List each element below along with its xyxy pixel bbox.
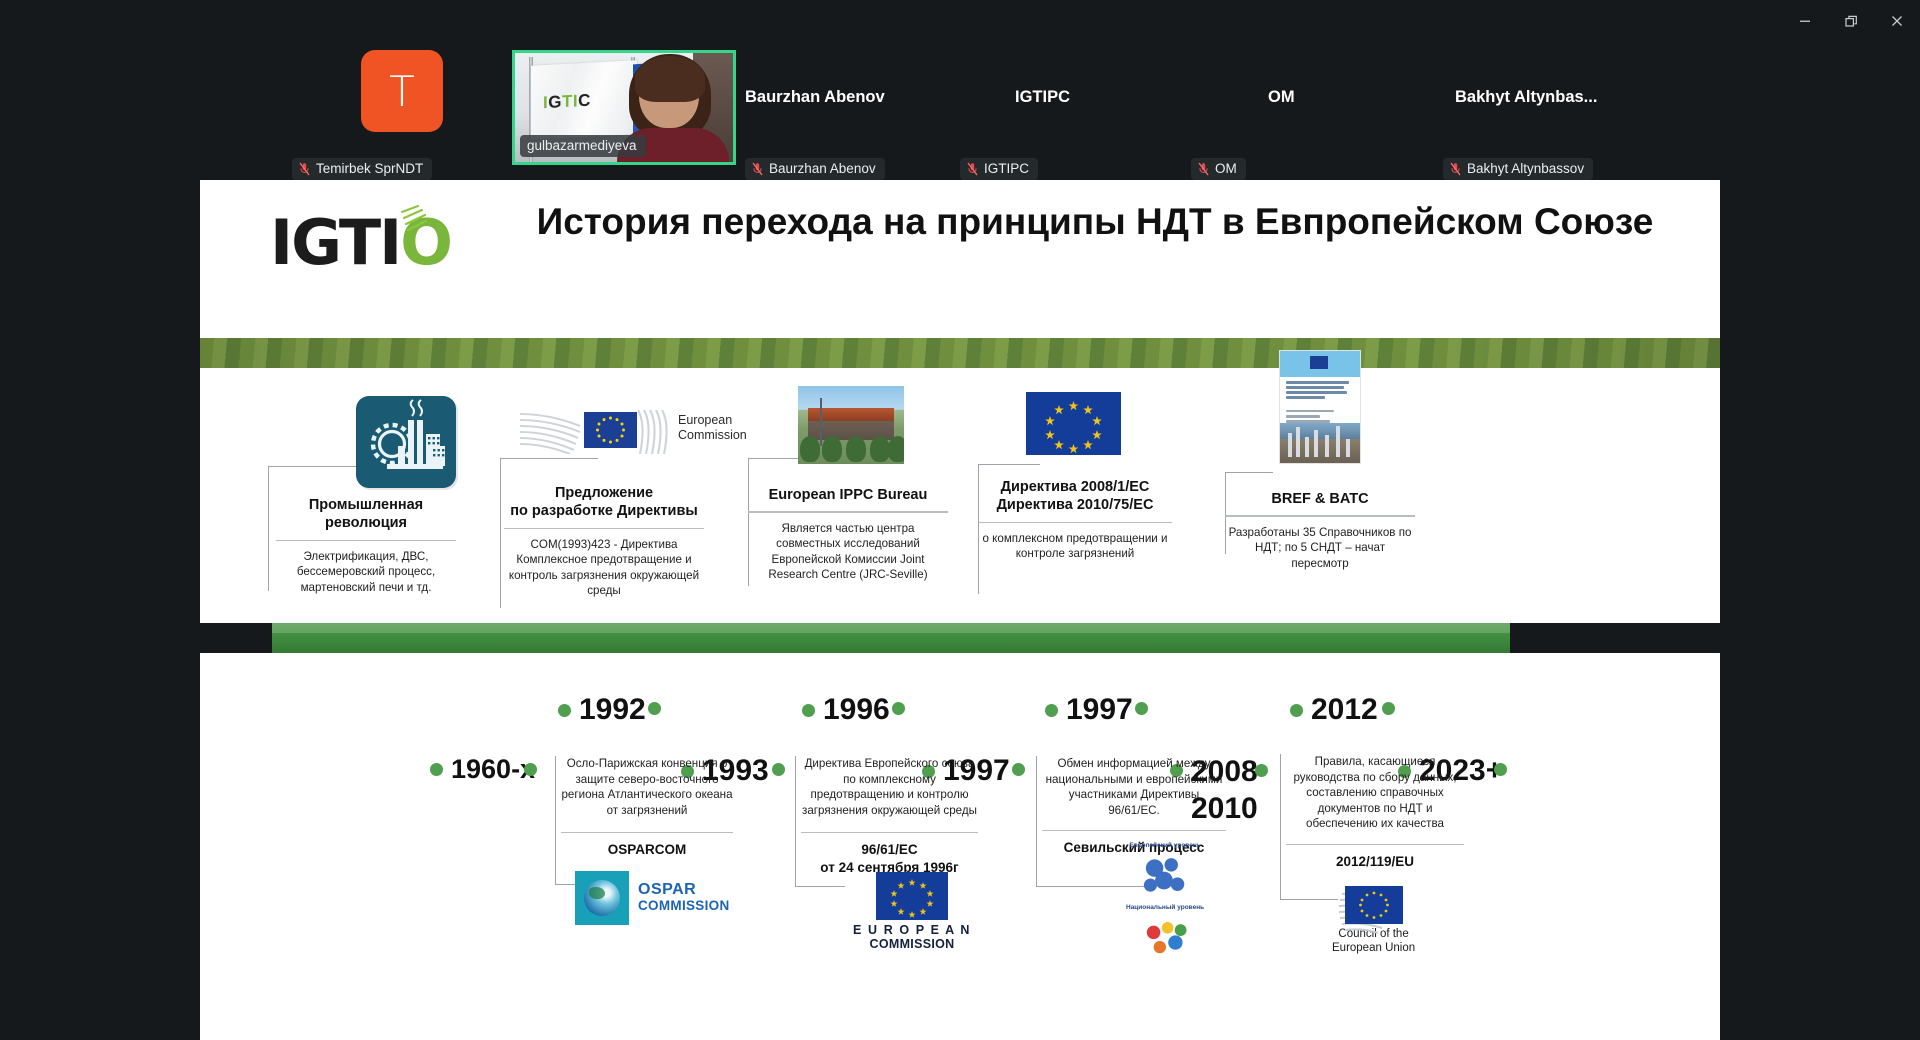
timeline-dot — [1290, 704, 1303, 717]
card-body: Является частью центра совместных исслед… — [748, 521, 948, 583]
avatar: T — [361, 50, 443, 132]
timeline-canvas: Промышленная революция Электрификация, Д… — [200, 368, 1720, 1040]
participant-display-name: Bakhyt Altynbas... — [1455, 88, 1597, 107]
minimize-button[interactable] — [1782, 0, 1828, 42]
card-title: Предложение по разработке Директивы — [504, 484, 704, 521]
eucom-logo-text-b: COMMISSION — [853, 937, 971, 951]
divider — [748, 511, 948, 512]
timeline-dot — [648, 702, 661, 715]
divider — [1042, 830, 1226, 831]
year-label: 1992 — [579, 693, 646, 727]
ospar-logo-text-a: OSPAR — [638, 882, 730, 898]
close-button[interactable] — [1874, 0, 1920, 42]
participant-name: Bakhyt Altynbassov — [1467, 161, 1584, 176]
seville-process-diagram: Европейский уровень Национальный уровень — [1126, 842, 1204, 960]
timeline-card-directive-96-61-ec[interactable]: Директива Европейского союза по комплекс… — [795, 756, 980, 877]
participant-tile-om[interactable]: OM OM — [1268, 50, 1358, 170]
european-commission-logo: EuropeanCommission — [520, 408, 672, 456]
year-1996: 1996 — [802, 693, 890, 727]
timeline-dot — [892, 702, 905, 715]
european-commission-flag-logo: E U R O P E A N COMMISSION — [853, 872, 971, 951]
participant-name: Temirbek SprNDT — [316, 161, 423, 176]
participant-name: OM — [1215, 161, 1237, 176]
card-subtitle: 2012/119/EU — [1286, 853, 1464, 871]
name-tag: Bakhyt Altynbassov — [1443, 158, 1593, 180]
european-commission-label: EuropeanCommission — [678, 413, 747, 443]
name-tag: gulbazarmediyeva — [520, 135, 646, 157]
participant-name: IGTIPC — [984, 161, 1029, 176]
participant-strip: T Temirbek SprNDT IGTIC — [0, 50, 1920, 180]
timeline-dot — [558, 704, 571, 717]
year-label: 1996 — [823, 693, 890, 727]
year-label: 1997 — [1066, 693, 1133, 727]
year-label: 1960-х — [451, 754, 535, 785]
timeline-dot — [1382, 702, 1395, 715]
video-feed: IGTIC gulbazarmediyeva — [512, 50, 736, 165]
year-2012: 2012 — [1290, 693, 1378, 727]
participant-name: Baurzhan Abenov — [769, 161, 876, 176]
timeline-card-ospar[interactable]: Осло-Парижская конвенция о защите северо… — [555, 756, 735, 859]
timeline-bar-gap-right — [1510, 623, 1720, 653]
restore-button[interactable] — [1828, 0, 1874, 42]
card-title: European IPPC Bureau — [748, 486, 948, 504]
name-tag: Baurzhan Abenov — [745, 158, 885, 180]
landscape-banner — [200, 338, 1720, 368]
window-controls — [1782, 0, 1920, 42]
timeline-dot — [772, 763, 785, 776]
council-of-eu-logo: Council of the European Union — [1332, 886, 1415, 955]
participant-tile-temirbek[interactable]: T Temirbek SprNDT — [361, 50, 443, 170]
divider — [1225, 515, 1415, 516]
divider — [1286, 844, 1464, 845]
participant-display-name: IGTIPC — [1015, 88, 1070, 107]
timeline-dot — [1255, 764, 1268, 777]
card-title: Директива 2008/1/EC Директива 2010/75/EC — [978, 478, 1172, 515]
mic-off-icon — [967, 162, 978, 176]
timeline-card-decision-2012-119-eu[interactable]: Правила, касающиеся руководства по сбору… — [1280, 754, 1466, 871]
timeline-dot — [802, 704, 815, 717]
participant-display-name: Baurzhan Abenov — [745, 88, 885, 107]
participant-display-name: OM — [1268, 88, 1295, 107]
coeu-logo-text-b: European Union — [1332, 942, 1415, 954]
bref-document-cover — [1279, 350, 1361, 464]
factory-gear-icon — [356, 396, 456, 488]
mic-off-icon — [299, 162, 310, 176]
divider — [561, 832, 733, 833]
logo-swoosh-icon — [396, 204, 436, 238]
year-label: 2012 — [1311, 693, 1378, 727]
card-title: BREF & BATC — [1225, 490, 1415, 508]
timeline-dot — [1012, 763, 1025, 776]
card-body: Обмен информацией между национальными и … — [1042, 756, 1226, 818]
slide-title: История перехода на принципы НДТ в Евпро… — [530, 198, 1660, 245]
card-body: о комплексном предотвращении и контроле … — [978, 531, 1172, 562]
timeline-bar-gap-left — [200, 623, 272, 653]
name-tag: OM — [1191, 158, 1246, 180]
participant-name: gulbazarmediyeva — [527, 138, 637, 153]
mic-off-icon — [1450, 162, 1461, 176]
eu-flag-icon — [1026, 392, 1121, 455]
seville-level-label-eu: Европейский уровень — [1126, 842, 1204, 850]
divider — [504, 528, 704, 529]
shared-slide[interactable]: IGTIO История перехода на принципы НДТ в… — [200, 180, 1720, 1040]
year-1960s: 1960-х — [430, 754, 535, 785]
card-subtitle: OSPARCOM — [561, 841, 733, 859]
participant-tile-igtipc[interactable]: IGTIPC IGTIPC — [1015, 50, 1155, 170]
timeline-dot — [524, 763, 537, 776]
card-title: Промышленная революция — [276, 496, 456, 533]
timeline-card-seville-process[interactable]: Обмен информацией между национальными и … — [1036, 756, 1228, 857]
participant-tile-bakhyt[interactable]: Bakhyt Altynbas... Bakhyt Altynbassov — [1455, 50, 1665, 170]
divider — [978, 522, 1172, 523]
card-body: Правила, касающиеся руководства по сбору… — [1286, 754, 1464, 832]
ospar-commission-logo: OSPAR COMMISSION — [575, 871, 730, 925]
name-tag: Temirbek SprNDT — [292, 158, 432, 180]
ospar-logo-text-b: COMMISSION — [638, 898, 730, 915]
seville-level-label-national: Национальный уровень — [1126, 904, 1204, 912]
card-body: Электрификация, ДВС, бессемеровский проц… — [276, 549, 456, 596]
year-1997-top: 1997 — [1045, 693, 1133, 727]
logo-text-1: IGTI — [270, 206, 400, 279]
slide-header: IGTIO История перехода на принципы НДТ в… — [200, 180, 1720, 338]
divider — [801, 832, 978, 833]
participant-tile-baurzhan[interactable]: Baurzhan Abenov Baurzhan Abenov — [745, 50, 950, 170]
name-tag: IGTIPC — [960, 158, 1038, 180]
timeline-dot — [430, 763, 443, 776]
eu-flag-icon — [584, 412, 637, 448]
ippc-building-photo — [798, 386, 904, 464]
card-body: Осло-Парижская конвенция о защите северо… — [561, 756, 733, 818]
mic-off-icon — [1198, 162, 1209, 176]
avatar-initial: T — [389, 67, 415, 116]
timeline-bar-highlight — [272, 623, 1510, 633]
timeline-dot — [1045, 704, 1058, 717]
divider — [276, 540, 456, 541]
card-body: COM(1993)423 - Директива Комплексное пре… — [504, 537, 704, 599]
timeline-dot — [1135, 702, 1148, 715]
participant-tile-gulbazar[interactable]: IGTIC gulbazarmediyeva — [512, 50, 736, 170]
eucom-logo-text-a: E U R O P E A N — [853, 923, 971, 937]
year-1992: 1992 — [558, 693, 646, 727]
card-body: Директива Европейского союза по комплекс… — [801, 756, 978, 818]
timeline-dot — [1494, 763, 1507, 776]
card-body: Разработаны 35 Справочников по НДТ; по 5… — [1225, 525, 1415, 572]
mic-off-icon — [752, 162, 763, 176]
